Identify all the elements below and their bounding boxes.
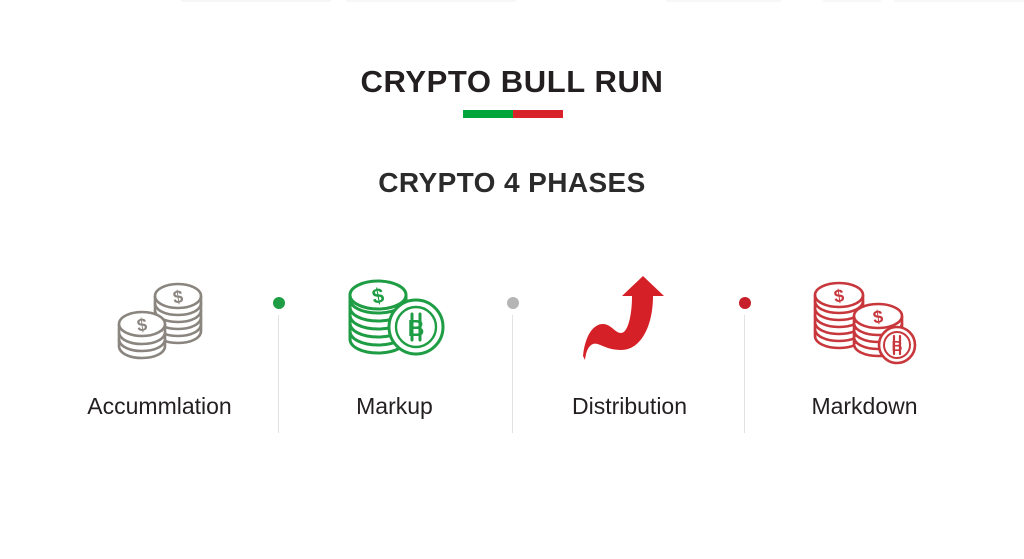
- phase-separator-2: [506, 297, 520, 437]
- red-coin-stacks-bitcoin-icon: $ $: [747, 270, 982, 370]
- separator-rule-3: [744, 315, 745, 433]
- separator-dot-gray: [507, 297, 519, 309]
- phase-label-markup: Markup: [277, 395, 512, 418]
- svg-text:B: B: [407, 315, 424, 341]
- infographic-canvas: CRYPTO BULL RUN CRYPTO 4 PHASES: [0, 0, 1024, 559]
- phase-item-distribution: Distribution: [512, 270, 747, 440]
- svg-text:B: B: [891, 338, 902, 355]
- green-coin-stack-bitcoin-icon: $ B: [277, 270, 512, 370]
- title-underline-green-segment: [463, 110, 513, 118]
- phase-label-accummlation: Accummlation: [42, 395, 277, 418]
- red-rising-arrow-icon: [512, 270, 747, 370]
- phase-separator-1: [272, 297, 286, 437]
- separator-dot-red: [739, 297, 751, 309]
- cropped-top-edge-artifact: [0, 0, 1024, 2]
- phase-item-markup: $ B Markup: [277, 270, 512, 440]
- page-title: CRYPTO BULL RUN: [0, 66, 1024, 97]
- phase-item-accummlation: $ $ Accummlation: [42, 270, 277, 440]
- separator-rule-1: [278, 315, 279, 433]
- title-underline-red-segment: [513, 110, 563, 118]
- separator-rule-2: [512, 315, 513, 433]
- gray-coin-stacks-icon: $ $: [42, 270, 277, 370]
- phase-label-markdown: Markdown: [747, 395, 982, 418]
- separator-dot-green: [273, 297, 285, 309]
- page-subtitle: CRYPTO 4 PHASES: [0, 169, 1024, 197]
- phase-separator-3: [738, 297, 752, 437]
- title-underline-bar: [463, 110, 563, 118]
- phase-label-distribution: Distribution: [512, 395, 747, 418]
- phase-item-markdown: $ $: [747, 270, 982, 440]
